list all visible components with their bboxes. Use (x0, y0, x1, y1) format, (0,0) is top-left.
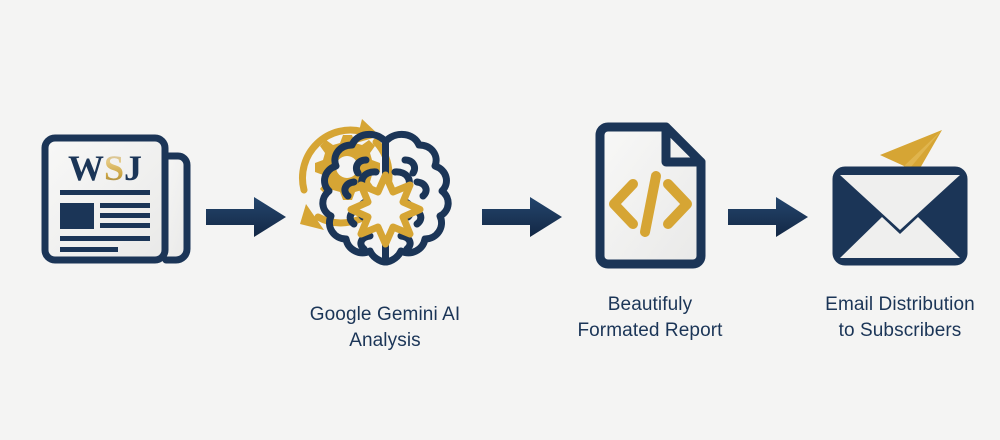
workflow-diagram: WSJ (0, 0, 1000, 440)
brain-gear-icon (288, 112, 483, 292)
flow-step-brain-label: Google Gemini AI Analysis (310, 302, 461, 354)
arrow-right-icon-1 (206, 196, 286, 243)
arrow-right-icon-3 (728, 196, 808, 243)
arrow-right-icon-2 (482, 196, 562, 243)
flow-step-email-label: Email Distribution to Subscribers (825, 292, 975, 344)
envelope-send-icon (820, 122, 980, 282)
flow-step-report: Beautifuly Formated Report (565, 122, 735, 344)
starburst-shape (351, 175, 420, 244)
flow-step-newspaper: WSJ (30, 128, 210, 293)
svg-text:WSJ: WSJ (67, 148, 141, 188)
flow-step-brain: Google Gemini AI Analysis (285, 112, 485, 354)
flow-step-email: Email Distribution to Subscribers (805, 122, 995, 344)
flow-step-report-label: Beautifuly Formated Report (577, 292, 722, 344)
newspaper-icon: WSJ (38, 128, 203, 283)
code-document-icon (588, 122, 713, 282)
